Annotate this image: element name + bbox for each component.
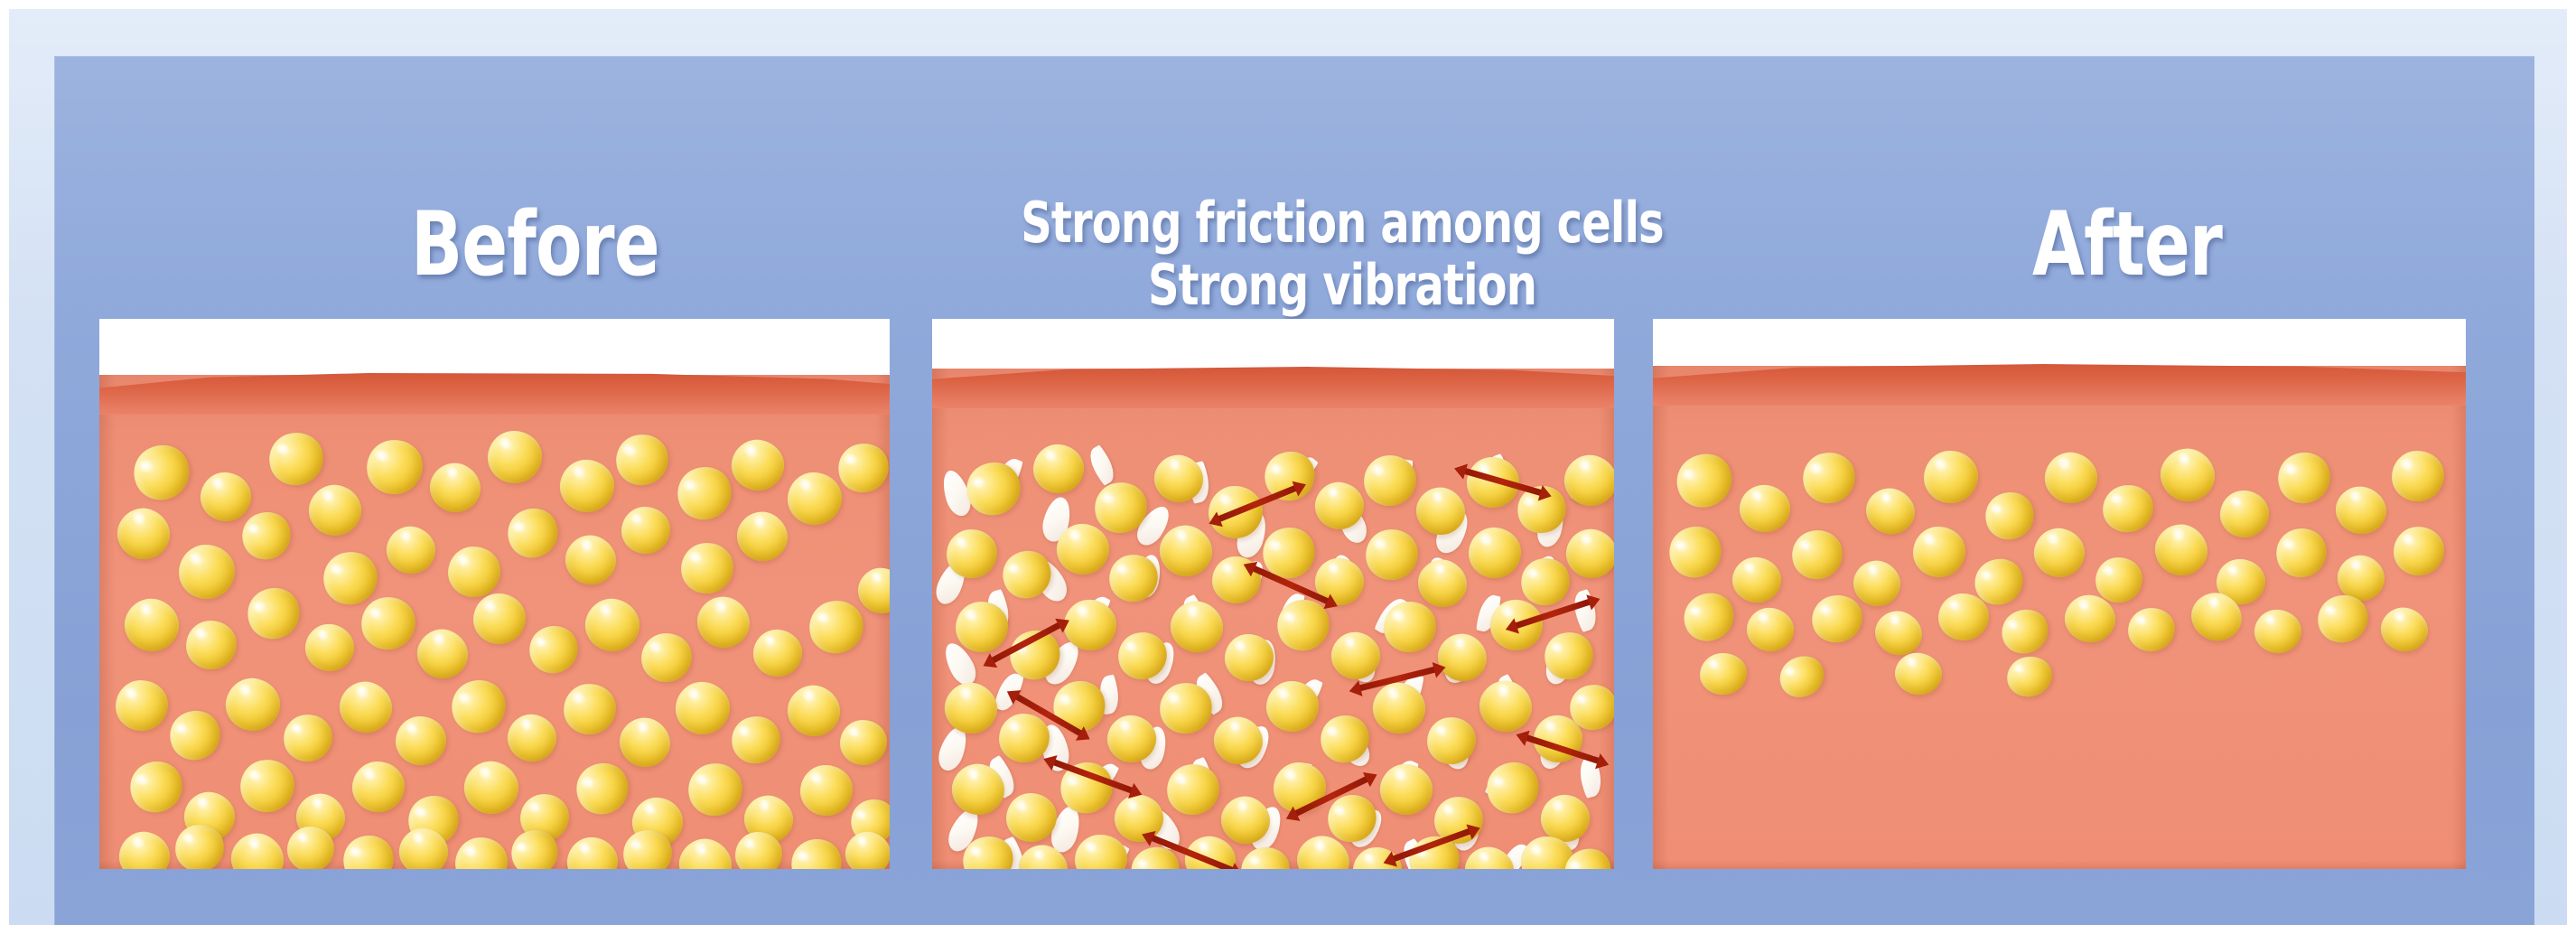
friction-arrow (1513, 598, 1592, 629)
fat-cell (221, 674, 284, 735)
fat-cell (803, 593, 871, 660)
fat-cell (1797, 446, 1861, 509)
fat-cell (458, 755, 525, 820)
friction-arrow (1357, 666, 1437, 692)
fat-cell (1891, 649, 1945, 698)
fat-cell (356, 592, 421, 656)
epidermis-layer (932, 367, 1614, 408)
fat-cell (118, 592, 186, 659)
fat-cell (688, 588, 759, 658)
friction-arrow (990, 621, 1063, 664)
fat-cell (726, 434, 789, 496)
fat-cell (1675, 584, 1742, 649)
fat-cell (638, 630, 695, 686)
skin-diagram-after (1653, 319, 2466, 869)
fat-cell (302, 621, 357, 675)
page-title-after: After (2032, 201, 2222, 289)
epidermis-layer (1653, 364, 2466, 406)
fat-cell (621, 507, 671, 555)
dermis-layer (1653, 366, 2466, 869)
friction-arrow (1524, 734, 1601, 765)
dermis-layer (99, 375, 890, 869)
friction-arrow-field (932, 369, 1614, 869)
fat-cell (558, 528, 623, 592)
fat-cell (110, 500, 177, 566)
fat-cell (487, 429, 544, 484)
fat-cell (611, 709, 678, 776)
fat-cell (1737, 482, 1793, 535)
fat-cell (2003, 652, 2057, 701)
fat-cell (396, 716, 447, 766)
fat-cell (162, 702, 229, 769)
fat-cell (1860, 481, 1921, 541)
fat-cell (263, 426, 330, 491)
fat-cell (786, 471, 844, 527)
friction-arrow (1051, 759, 1135, 794)
friction-arrow (1149, 835, 1235, 869)
fat-cell (236, 754, 300, 817)
fat-cell (2030, 523, 2090, 582)
fat-cell (238, 579, 309, 649)
fat-cell (2271, 445, 2338, 510)
poster-root: Before Strong friction among cells Stron… (0, 0, 2576, 925)
fat-cell (1995, 603, 2056, 661)
fat-cell (122, 752, 191, 821)
fat-cell (611, 428, 675, 491)
fat-cell (331, 674, 400, 742)
fat-cell (1730, 554, 1784, 605)
fat-cell (522, 619, 585, 681)
fat-cell-field-before (99, 375, 890, 869)
fat-cell (410, 621, 476, 687)
fat-cell (2389, 448, 2447, 504)
fat-cell (729, 503, 796, 570)
fat-cell (304, 481, 366, 541)
fat-cell (1744, 604, 1797, 655)
fat-cell (223, 825, 293, 869)
fat-cell (124, 435, 200, 510)
fat-cell (672, 831, 740, 869)
fat-cell (362, 435, 427, 500)
fat-cell (783, 831, 849, 869)
fat-cell (2253, 608, 2303, 655)
fat-cell (560, 680, 619, 738)
fat-cell (336, 828, 400, 869)
fat-cell (682, 757, 749, 822)
fat-cell (1773, 649, 1832, 705)
fat-cell (2392, 525, 2446, 578)
fat-cell (1667, 444, 1742, 517)
fat-cell (1698, 651, 1748, 696)
fat-cell (422, 454, 489, 520)
fat-cell (2330, 481, 2393, 540)
fat-cell (799, 764, 854, 817)
fat-cell (580, 593, 645, 658)
fat-cell (669, 458, 740, 528)
fat-cell (677, 538, 738, 597)
fat-cell (279, 710, 337, 767)
friction-arrow (1462, 467, 1544, 496)
fat-cell (751, 628, 804, 679)
friction-arrow (1216, 484, 1299, 522)
fat-cell (565, 834, 621, 869)
fat-cell (2151, 440, 2223, 510)
page-title-before: Before (411, 201, 659, 289)
fat-cell (502, 709, 562, 767)
fat-cell (453, 835, 510, 869)
fat-cell (178, 544, 236, 600)
epidermis-layer (99, 373, 890, 415)
fat-cell (673, 679, 733, 737)
center-caption-line-2: Strong vibration (1016, 254, 1668, 316)
fat-cell (499, 500, 566, 566)
fat-cell (115, 827, 174, 869)
fat-cell (1807, 590, 1868, 648)
friction-arrow (1293, 775, 1370, 818)
fat-cell (114, 678, 170, 733)
center-caption-line-1: Strong friction among cells (1016, 192, 1668, 254)
fat-cell (2099, 481, 2158, 537)
fat-cell (473, 593, 526, 644)
fat-cell (2270, 521, 2334, 584)
center-caption: Strong friction among cells Strong vibra… (963, 192, 1722, 317)
fat-cell (1938, 593, 1989, 640)
fat-cell (1660, 517, 1731, 586)
friction-arrow (1251, 565, 1331, 605)
friction-arrow (1013, 693, 1084, 737)
fat-cell (839, 719, 889, 767)
fat-cell (1978, 484, 2042, 547)
fat-cell (567, 753, 638, 823)
dermis-layer (932, 369, 1614, 869)
fat-cell (184, 619, 238, 672)
fat-cell (1787, 525, 1848, 585)
friction-arrow (1391, 827, 1473, 863)
fat-cell (443, 672, 513, 741)
fat-cell (2125, 604, 2179, 655)
skin-diagram-before (99, 319, 890, 869)
fat-cell (351, 761, 406, 813)
fat-cell (445, 544, 503, 600)
fat-cell (2040, 448, 2102, 509)
fat-cell-field-after (1653, 366, 2466, 869)
skin-diagram-treatment (932, 319, 1614, 869)
fat-cell (1913, 526, 1966, 577)
fat-cell (726, 710, 787, 770)
fat-cell (556, 456, 617, 516)
fat-cell (2375, 602, 2434, 658)
fat-cell (2146, 516, 2216, 584)
fat-cell (1923, 450, 1979, 504)
fat-cell (381, 520, 442, 580)
fat-cell (2219, 490, 2271, 539)
fat-cell (780, 678, 847, 743)
fat-cell (198, 470, 254, 524)
